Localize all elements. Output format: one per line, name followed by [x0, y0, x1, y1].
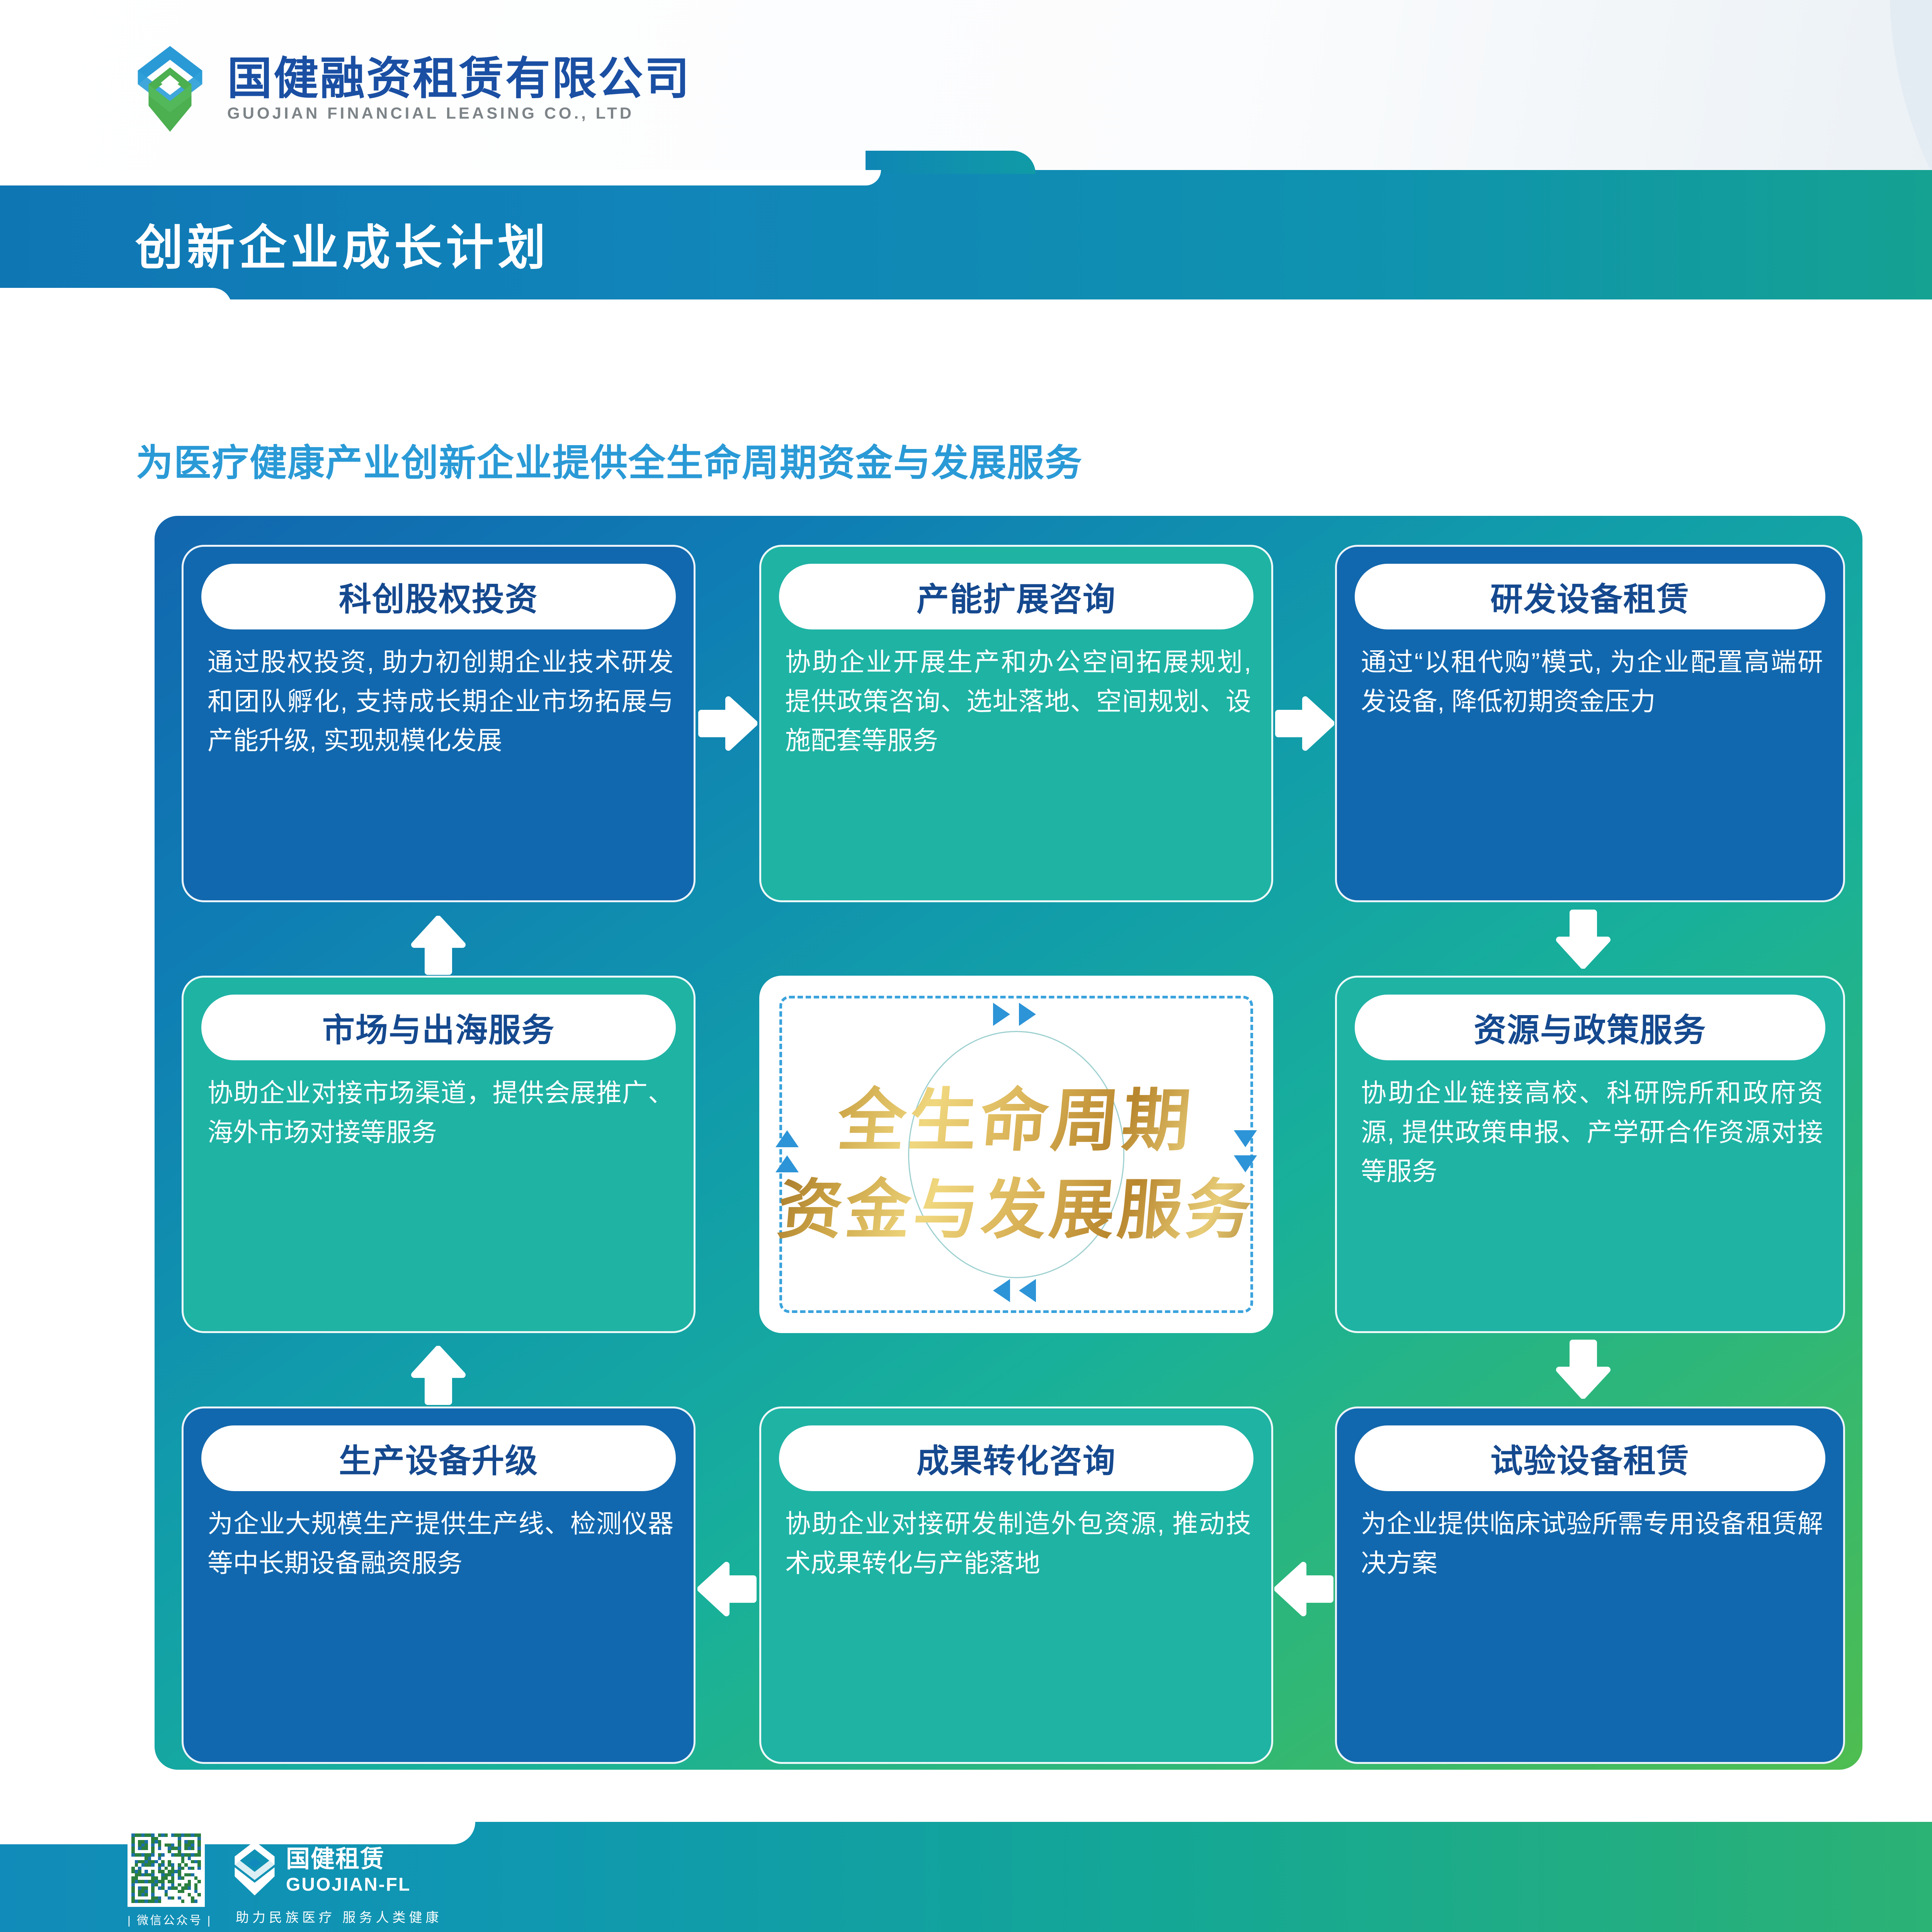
service-card-production-upgrade[interactable]: 生产设备升级 为企业大规模生产提供生产线、检测仪器等中长期设备融资服务 — [182, 1406, 696, 1764]
emblem-arrow-down-1 — [1234, 1130, 1257, 1147]
service-card-market-overseas[interactable]: 市场与出海服务 协助企业对接市场渠道，提供会展推广、海外市场对接等服务 — [182, 976, 696, 1333]
emblem-arrow-right-2 — [1019, 1003, 1036, 1026]
card-body: 协助企业开展生产和办公空间拓展规划, 提供政策咨询、选址落地、空间规划、设施配套… — [785, 643, 1251, 760]
flow-arrow-left-icon — [697, 1561, 757, 1617]
card-body: 通过股权投资, 助力初创期企业技术研发和团队孵化, 支持成长期企业市场拓展与产能… — [207, 643, 673, 760]
card-title-pill: 生产设备升级 — [201, 1425, 676, 1491]
company-logo: 国健融资租赁有限公司 GUOJIAN FINANCIAL LEASING CO.… — [131, 44, 691, 133]
emblem-arrow-left-1 — [993, 1279, 1010, 1302]
header-decoration-1 — [1781, 0, 1932, 170]
card-title-pill: 试验设备租赁 — [1355, 1425, 1825, 1491]
flow-arrow-down-icon — [1555, 909, 1611, 969]
card-title-pill: 市场与出海服务 — [201, 995, 676, 1060]
guojian-fl-logo-icon — [232, 1839, 277, 1897]
emblem-arrow-up-1 — [776, 1130, 799, 1147]
flow-arrow-left-icon — [1274, 1561, 1334, 1617]
guojian-logo-icon — [131, 44, 209, 133]
card-title-pill: 资源与政策服务 — [1355, 995, 1825, 1060]
card-title: 市场与出海服务 — [322, 1004, 555, 1051]
qr-code-image — [128, 1830, 205, 1907]
card-title: 试验设备租赁 — [1490, 1435, 1690, 1482]
company-name-en: GUOJIAN FINANCIAL LEASING CO., LTD — [227, 104, 691, 122]
flow-arrow-up-icon — [410, 1346, 466, 1406]
card-body: 协助企业对接研发制造外包资源, 推动技术成果转化与产能落地 — [785, 1504, 1251, 1583]
service-card-resource-policy[interactable]: 资源与政策服务 协助企业链接高校、科研院所和政府资源, 提供政策申报、产学研合作… — [1335, 976, 1845, 1333]
company-name-cn: 国健融资租赁有限公司 — [227, 55, 691, 102]
card-body: 为企业提供临床试验所需专用设备租赁解决方案 — [1361, 1504, 1823, 1583]
card-title-pill: 科创股权投资 — [201, 564, 676, 629]
footer-logo-cn: 国健租赁 — [286, 1839, 411, 1874]
flow-arrow-up-icon — [410, 916, 466, 976]
page-header: 国健融资租赁有限公司 GUOJIAN FINANCIAL LEASING CO.… — [0, 0, 1932, 170]
footer-logo-en: GUOJIAN-FL — [286, 1874, 411, 1895]
banner-notch — [0, 170, 881, 185]
footer-logo-slogan: 助力民族医疗 服务人类健康 — [236, 1907, 442, 1926]
card-title: 资源与政策服务 — [1474, 1004, 1706, 1051]
service-card-kechuang-equity[interactable]: 科创股权投资 通过股权投资, 助力初创期企业技术研发和团队孵化, 支持成长期企业… — [182, 545, 696, 902]
wechat-qr-block[interactable]: | 微信公众号 | — [128, 1830, 205, 1928]
card-body: 为企业大规模生产提供生产线、检测仪器等中长期设备融资服务 — [207, 1504, 673, 1583]
card-title: 产能扩展咨询 — [917, 573, 1116, 620]
card-body: 协助企业对接市场渠道，提供会展推广、海外市场对接等服务 — [207, 1073, 673, 1152]
card-title: 科创股权投资 — [339, 573, 538, 620]
emblem-arrow-right-1 — [993, 1003, 1010, 1026]
card-title: 研发设备租赁 — [1490, 573, 1690, 620]
page-title: 创新企业成长计划 — [135, 209, 549, 278]
emblem-arrow-up-2 — [776, 1155, 799, 1172]
card-title-pill: 成果转化咨询 — [779, 1425, 1253, 1491]
service-card-rd-equipment-leasing[interactable]: 研发设备租赁 通过“以租代购”模式, 为企业配置高端研发设备, 降低初期资金压力 — [1335, 545, 1845, 902]
banner-tab-decoration — [866, 151, 1036, 174]
emblem-arrow-left-2 — [1019, 1279, 1036, 1302]
flow-arrow-right-icon — [697, 696, 757, 752]
left-section-heading: 为医疗健康产业创新企业提供全生命周期资金与发展服务 — [136, 433, 1083, 486]
card-title: 生产设备升级 — [339, 1435, 538, 1482]
emblem-line-1: 全生命周期 — [755, 1065, 1277, 1164]
card-body: 协助企业链接高校、科研院所和政府资源, 提供政策申报、产学研合作资源对接等服务 — [1361, 1073, 1823, 1191]
emblem-arrow-down-2 — [1234, 1155, 1257, 1172]
service-card-capacity-consulting[interactable]: 产能扩展咨询 协助企业开展生产和办公空间拓展规划, 提供政策咨询、选址落地、空间… — [759, 545, 1273, 902]
service-card-trial-equipment-leasing[interactable]: 试验设备租赁 为企业提供临床试验所需专用设备租赁解决方案 — [1335, 1406, 1845, 1764]
card-title-pill: 研发设备租赁 — [1355, 564, 1825, 629]
card-title-pill: 产能扩展咨询 — [779, 564, 1253, 629]
card-title: 成果转化咨询 — [917, 1435, 1116, 1482]
qr-caption: | 微信公众号 | — [128, 1911, 205, 1928]
flow-arrow-down-icon — [1555, 1339, 1611, 1399]
flow-arrow-right-icon — [1274, 696, 1334, 752]
card-body: 通过“以租代购”模式, 为企业配置高端研发设备, 降低初期资金压力 — [1361, 643, 1823, 721]
footer-logo: 国健租赁 GUOJIAN-FL — [232, 1839, 411, 1897]
emblem-line-2: 资金与发展服务 — [755, 1157, 1277, 1251]
service-card-achievement-transfer[interactable]: 成果转化咨询 协助企业对接研发制造外包资源, 推动技术成果转化与产能落地 — [759, 1406, 1273, 1764]
lifecycle-emblem: 全生命周期 资金与发展服务 — [759, 976, 1273, 1333]
